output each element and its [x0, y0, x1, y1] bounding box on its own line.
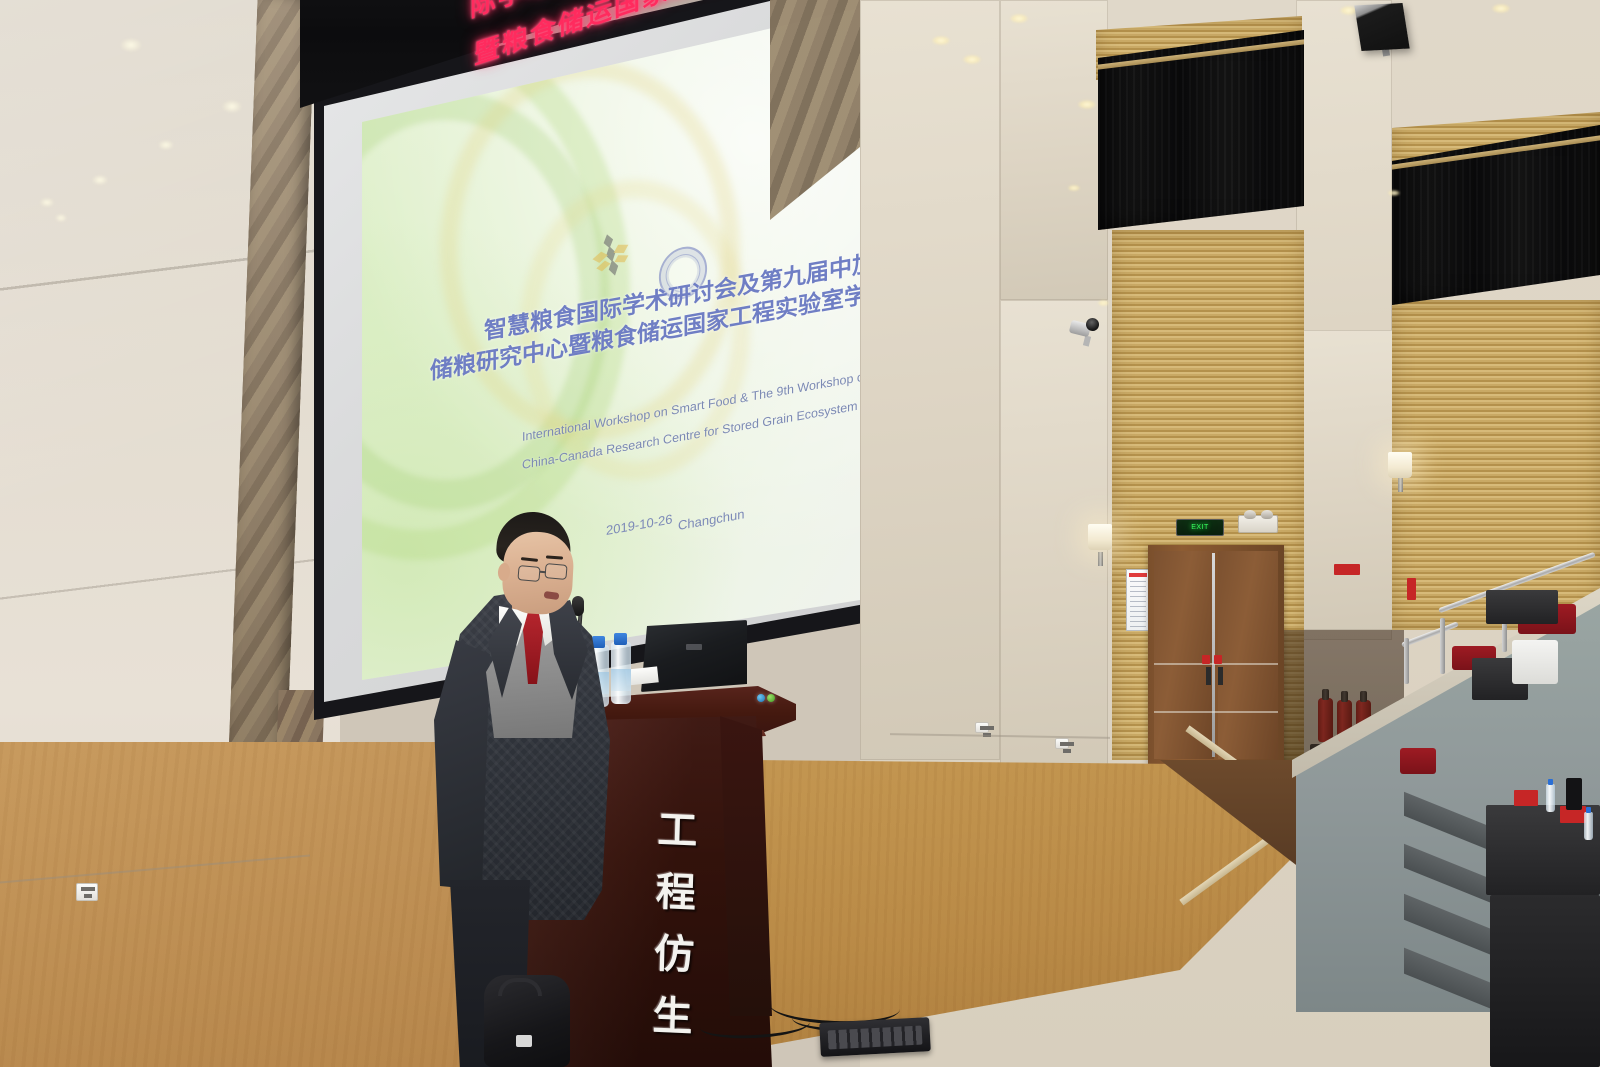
- sconce-arm: [1398, 478, 1403, 492]
- door-warning-label: [1214, 655, 1222, 664]
- wall-power-outlet[interactable]: [975, 722, 989, 733]
- front-row-desk: [1490, 895, 1600, 1067]
- twin-head-emergency-light: [1238, 515, 1278, 533]
- bottle-label: [611, 669, 631, 691]
- ceiling-downlight: [1388, 190, 1400, 196]
- laptop-brand-logo: [686, 644, 702, 650]
- podium-char-4: 生: [637, 984, 709, 1049]
- wall-light-reflection: [40, 198, 54, 207]
- wall-sconce-light: [1088, 524, 1112, 550]
- slide-city: Changchun: [678, 506, 745, 533]
- ceiling-downlight: [1078, 100, 1096, 109]
- door-warning-label: [1202, 655, 1210, 664]
- ceiling-downlight: [1010, 14, 1028, 23]
- desk-name-card: [1514, 790, 1538, 806]
- emergency-exit-sign: EXIT: [1176, 519, 1224, 536]
- wall-light-reflection: [55, 214, 67, 222]
- door-handle[interactable]: [1218, 667, 1223, 685]
- wall-light-reflection: [92, 175, 108, 185]
- ceiling-downlight: [1492, 4, 1510, 13]
- bottle-cap: [614, 633, 627, 645]
- fire-equipment-sign: [1334, 564, 1360, 575]
- seating-desk: [1486, 590, 1558, 624]
- wall-notice-poster: [1126, 569, 1150, 631]
- ceiling-downlight: [932, 36, 950, 45]
- ceiling-downlight: [1068, 185, 1080, 191]
- podium-char-1: 工: [642, 799, 714, 864]
- wall-light-reflection: [222, 100, 242, 113]
- sconce-arm: [1098, 552, 1103, 566]
- eyeglasses-left-lens: [517, 565, 540, 582]
- slat-wood-panel: [1392, 300, 1600, 630]
- door-handle[interactable]: [1206, 667, 1211, 685]
- wall-light-reflection: [120, 38, 142, 52]
- desk-water-bottle: [1546, 784, 1555, 812]
- bottle-cap: [592, 636, 605, 648]
- slide-date: 2019-10-26: [606, 511, 673, 538]
- wall-power-outlet[interactable]: [1055, 738, 1069, 749]
- ceiling-downlight: [1098, 300, 1109, 306]
- seat-back-cover: [1512, 640, 1558, 684]
- emblem-dot-blue: [757, 694, 765, 702]
- desk-water-bottle: [1584, 812, 1593, 840]
- door-panel-line: [1154, 711, 1278, 713]
- door-leaf-right[interactable]: [1218, 551, 1278, 759]
- ceiling-downlight: [963, 55, 981, 64]
- av-control-panel[interactable]: [819, 1017, 931, 1057]
- wall-panel: [860, 0, 1000, 760]
- emblem-dot-green: [767, 694, 775, 702]
- exit-sign-label: EXIT: [1191, 524, 1209, 531]
- podium-roundel-emblem: [757, 694, 775, 703]
- wall-light-reflection: [158, 140, 174, 150]
- fire-equipment-sign: [1407, 578, 1416, 600]
- handrail-post: [1404, 638, 1409, 684]
- tiered-seat: [1400, 748, 1436, 774]
- eyeglasses-right-lens: [544, 563, 567, 580]
- grain-motif-logo: [585, 224, 637, 287]
- wall-panel: [1000, 0, 1108, 300]
- auditorium-presentation-scene: 智慧粮食国际学术研讨会及第九届中加生态 储粮研究中心暨粮食储运国家工程实验室学术…: [0, 0, 1600, 1067]
- wall-sconce-light: [1388, 452, 1412, 478]
- wall-mounted-speaker: [1354, 3, 1409, 51]
- desk-equipment: [1566, 778, 1582, 810]
- control-panel-keys[interactable]: [828, 1026, 923, 1050]
- podium-char-3: 仿: [638, 922, 710, 987]
- wall-power-outlet[interactable]: [76, 883, 98, 901]
- podium-char-2: 程: [640, 860, 712, 925]
- backpack-logo-patch: [516, 1035, 532, 1047]
- handrail-post: [1440, 618, 1445, 674]
- podium-calligraphy: 工 程 仿 生: [637, 799, 713, 1050]
- wooden-double-door[interactable]: [1148, 545, 1284, 765]
